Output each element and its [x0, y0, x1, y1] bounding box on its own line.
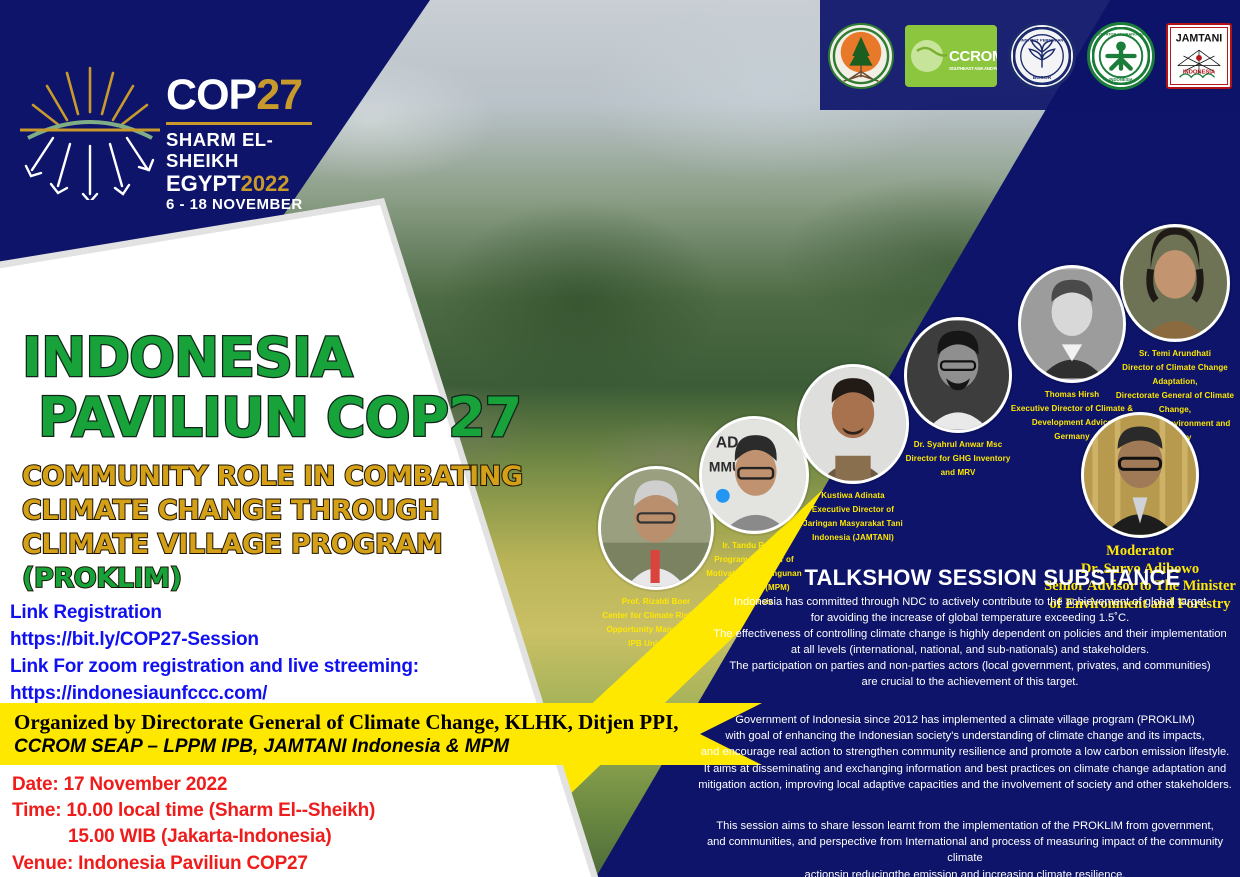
cop27-city: SHARM EL-SHEIKH [166, 129, 316, 172]
paragraph-line: The effectiveness of controlling climate… [700, 627, 1240, 643]
avatar [904, 317, 1012, 433]
event-time-wib: 15.00 WIB (Jakarta-Indonesia) [12, 824, 552, 850]
svg-text:MOTIVATOR PEMBANGUNAN: MOTIVATOR PEMBANGUNAN [1094, 33, 1149, 37]
cop27-wordmark: COP27 [166, 74, 316, 117]
organizer-banner: Organized by Directorate General of Clim… [0, 703, 762, 765]
speaker-name: Kustiwa Adinata [790, 489, 916, 503]
proklim-label: (PROKLIM) [22, 563, 182, 594]
talkshow-paragraph-3: This session aims to share lesson learnt… [690, 818, 1240, 877]
avatar [1081, 412, 1199, 538]
paragraph-line: and encourage real action to strengthen … [690, 744, 1240, 760]
speaker-role: Director of Climate Change Adaptation, [1110, 361, 1240, 389]
zoom-label: Link For zoom registration and live stre… [10, 654, 550, 681]
cop27-logo: COP27 SHARM EL-SHEIKH EGYPT2022 6 - 18 N… [14, 52, 314, 202]
ipb-bogor-logo: INSTITUT PERTANIAN BOGOR [1008, 22, 1076, 90]
mpm-indonesia-logo: MOTIVATOR PEMBANGUNAN INDONESIA [1087, 22, 1155, 90]
partner-logo-row: CCROM SOUTHEAST ASIA AND PACIFIC INSTITU… [828, 22, 1232, 90]
paragraph-line: This session aims to share lesson learnt… [690, 818, 1240, 834]
speaker-role: Director for GHG Inventory [898, 452, 1018, 466]
svg-text:AD: AD [716, 434, 739, 451]
svg-text:JAMTANI: JAMTANI [1176, 33, 1222, 45]
cop27-divider [166, 122, 312, 125]
headline-subtitle: COMMUNITY ROLE IN COMBATING CLIMATE CHAN… [22, 460, 562, 596]
svg-text:CCROM: CCROM [949, 48, 997, 65]
jamtani-logo: JAMTANI INDONESIA [1166, 23, 1232, 89]
speaker-role: Center for Climate Risk and [596, 609, 716, 623]
speaker-role: Jaringan Masyarakat Tani [790, 517, 916, 531]
subtitle-line-3: CLIMATE VILLAGE PROGRAM (PROKLIM) [22, 528, 562, 596]
speaker-role: and MRV [898, 466, 1018, 480]
headline-line-2: PAVILIUN COP27 [22, 390, 562, 446]
svg-text:SOUTHEAST ASIA AND PACIFIC: SOUTHEAST ASIA AND PACIFIC [949, 66, 997, 71]
speaker-name: Sr. Temi Arundhati [1110, 347, 1240, 361]
headline-line-1: INDONESIA [22, 330, 562, 386]
paragraph-line: mitigation action, improving local adapt… [690, 777, 1240, 793]
paragraph-line: It aims at disseminating and exchanging … [690, 761, 1240, 777]
avatar [1120, 224, 1230, 342]
organizer-line-1: Organized by Directorate General of Clim… [14, 710, 762, 735]
svg-text:BOGOR: BOGOR [1033, 75, 1052, 81]
talkshow-paragraph-1: Indonesia has committed through NDC to a… [700, 595, 1240, 690]
talkshow-paragraph-2: Government of Indonesia since 2012 has i… [690, 712, 1240, 793]
speaker-role: IPB University [596, 637, 716, 651]
poster-canvas: COP27 SHARM EL-SHEIKH EGYPT2022 6 - 18 N… [0, 0, 1240, 877]
moderator-photo [1084, 415, 1196, 535]
speaker-role: Opportunity Management [596, 623, 716, 637]
speaker-role: Executive Director of [790, 503, 916, 517]
cop27-country-year: EGYPT2022 [166, 172, 316, 196]
speaker-photo [1021, 268, 1123, 380]
registration-label: Link Registration [10, 600, 550, 627]
cop27-sunburst-icon [20, 60, 160, 200]
cop27-dates: 6 - 18 NOVEMBER [166, 196, 316, 213]
speaker-name: Dr. Syahrul Anwar Msc [898, 438, 1018, 452]
paragraph-line: The participation on parties and non-par… [700, 659, 1240, 675]
paragraph-line: are crucial to the achievement of this t… [700, 675, 1240, 691]
poster-headline: INDONESIA PAVILIUN COP27 COMMUNITY ROLE … [22, 330, 562, 596]
organizer-line-2: CCROM SEAP – LPPM IPB, JAMTANI Indonesia… [14, 735, 762, 759]
moderator-label: Moderator [1040, 543, 1240, 561]
paragraph-line: Government of Indonesia since 2012 has i… [690, 712, 1240, 728]
speaker-photo [907, 320, 1009, 430]
speaker-caption: Dr. Syahrul Anwar Msc Director for GHG I… [898, 438, 1018, 480]
speaker-card: Dr. Syahrul Anwar Msc Director for GHG I… [898, 317, 1018, 480]
talkshow-title: TALKSHOW SESSION SUBSTANCE [745, 565, 1240, 591]
ccrom-logo: CCROM SOUTHEAST ASIA AND PACIFIC [905, 25, 997, 87]
svg-text:INDONESIA: INDONESIA [1109, 77, 1133, 82]
paragraph-line: and communities, and perspective from In… [690, 834, 1240, 866]
paragraph-line: with goal of enhancing the Indonesian so… [690, 728, 1240, 744]
speaker-role: Indonesia (JAMTANI) [790, 531, 916, 545]
registration-links: Link Registration https://bit.ly/COP27-S… [10, 600, 550, 708]
event-details: Date: 17 November 2022 Time: 10.00 local… [12, 772, 552, 877]
klhk-logo [828, 23, 894, 89]
paragraph-line: for avoiding the increase of global temp… [700, 611, 1240, 627]
paragraph-line: actionsin reducingthe emission and incre… [690, 867, 1240, 877]
speaker-photo [1123, 227, 1227, 339]
svg-text:INSTITUT PERTANIAN: INSTITUT PERTANIAN [1021, 38, 1064, 43]
avatar [797, 364, 909, 484]
event-time: Time: 10.00 local time (Sharm El--Sheikh… [12, 798, 552, 824]
speaker-caption: Kustiwa Adinata Executive Director of Ja… [790, 489, 916, 545]
subtitle-line-2: CLIMATE CHANGE THROUGH [22, 494, 562, 528]
paragraph-line: Indonesia has committed through NDC to a… [700, 595, 1240, 611]
speaker-photo [800, 367, 906, 481]
paragraph-line: at all levels (international, national, … [700, 643, 1240, 659]
subtitle-line-1: COMMUNITY ROLE IN COMBATING [22, 460, 562, 494]
registration-url[interactable]: https://bit.ly/COP27-Session [10, 627, 550, 654]
event-venue: Venue: Indonesia Paviliun COP27 [12, 851, 552, 877]
event-date: Date: 17 November 2022 [12, 772, 552, 798]
